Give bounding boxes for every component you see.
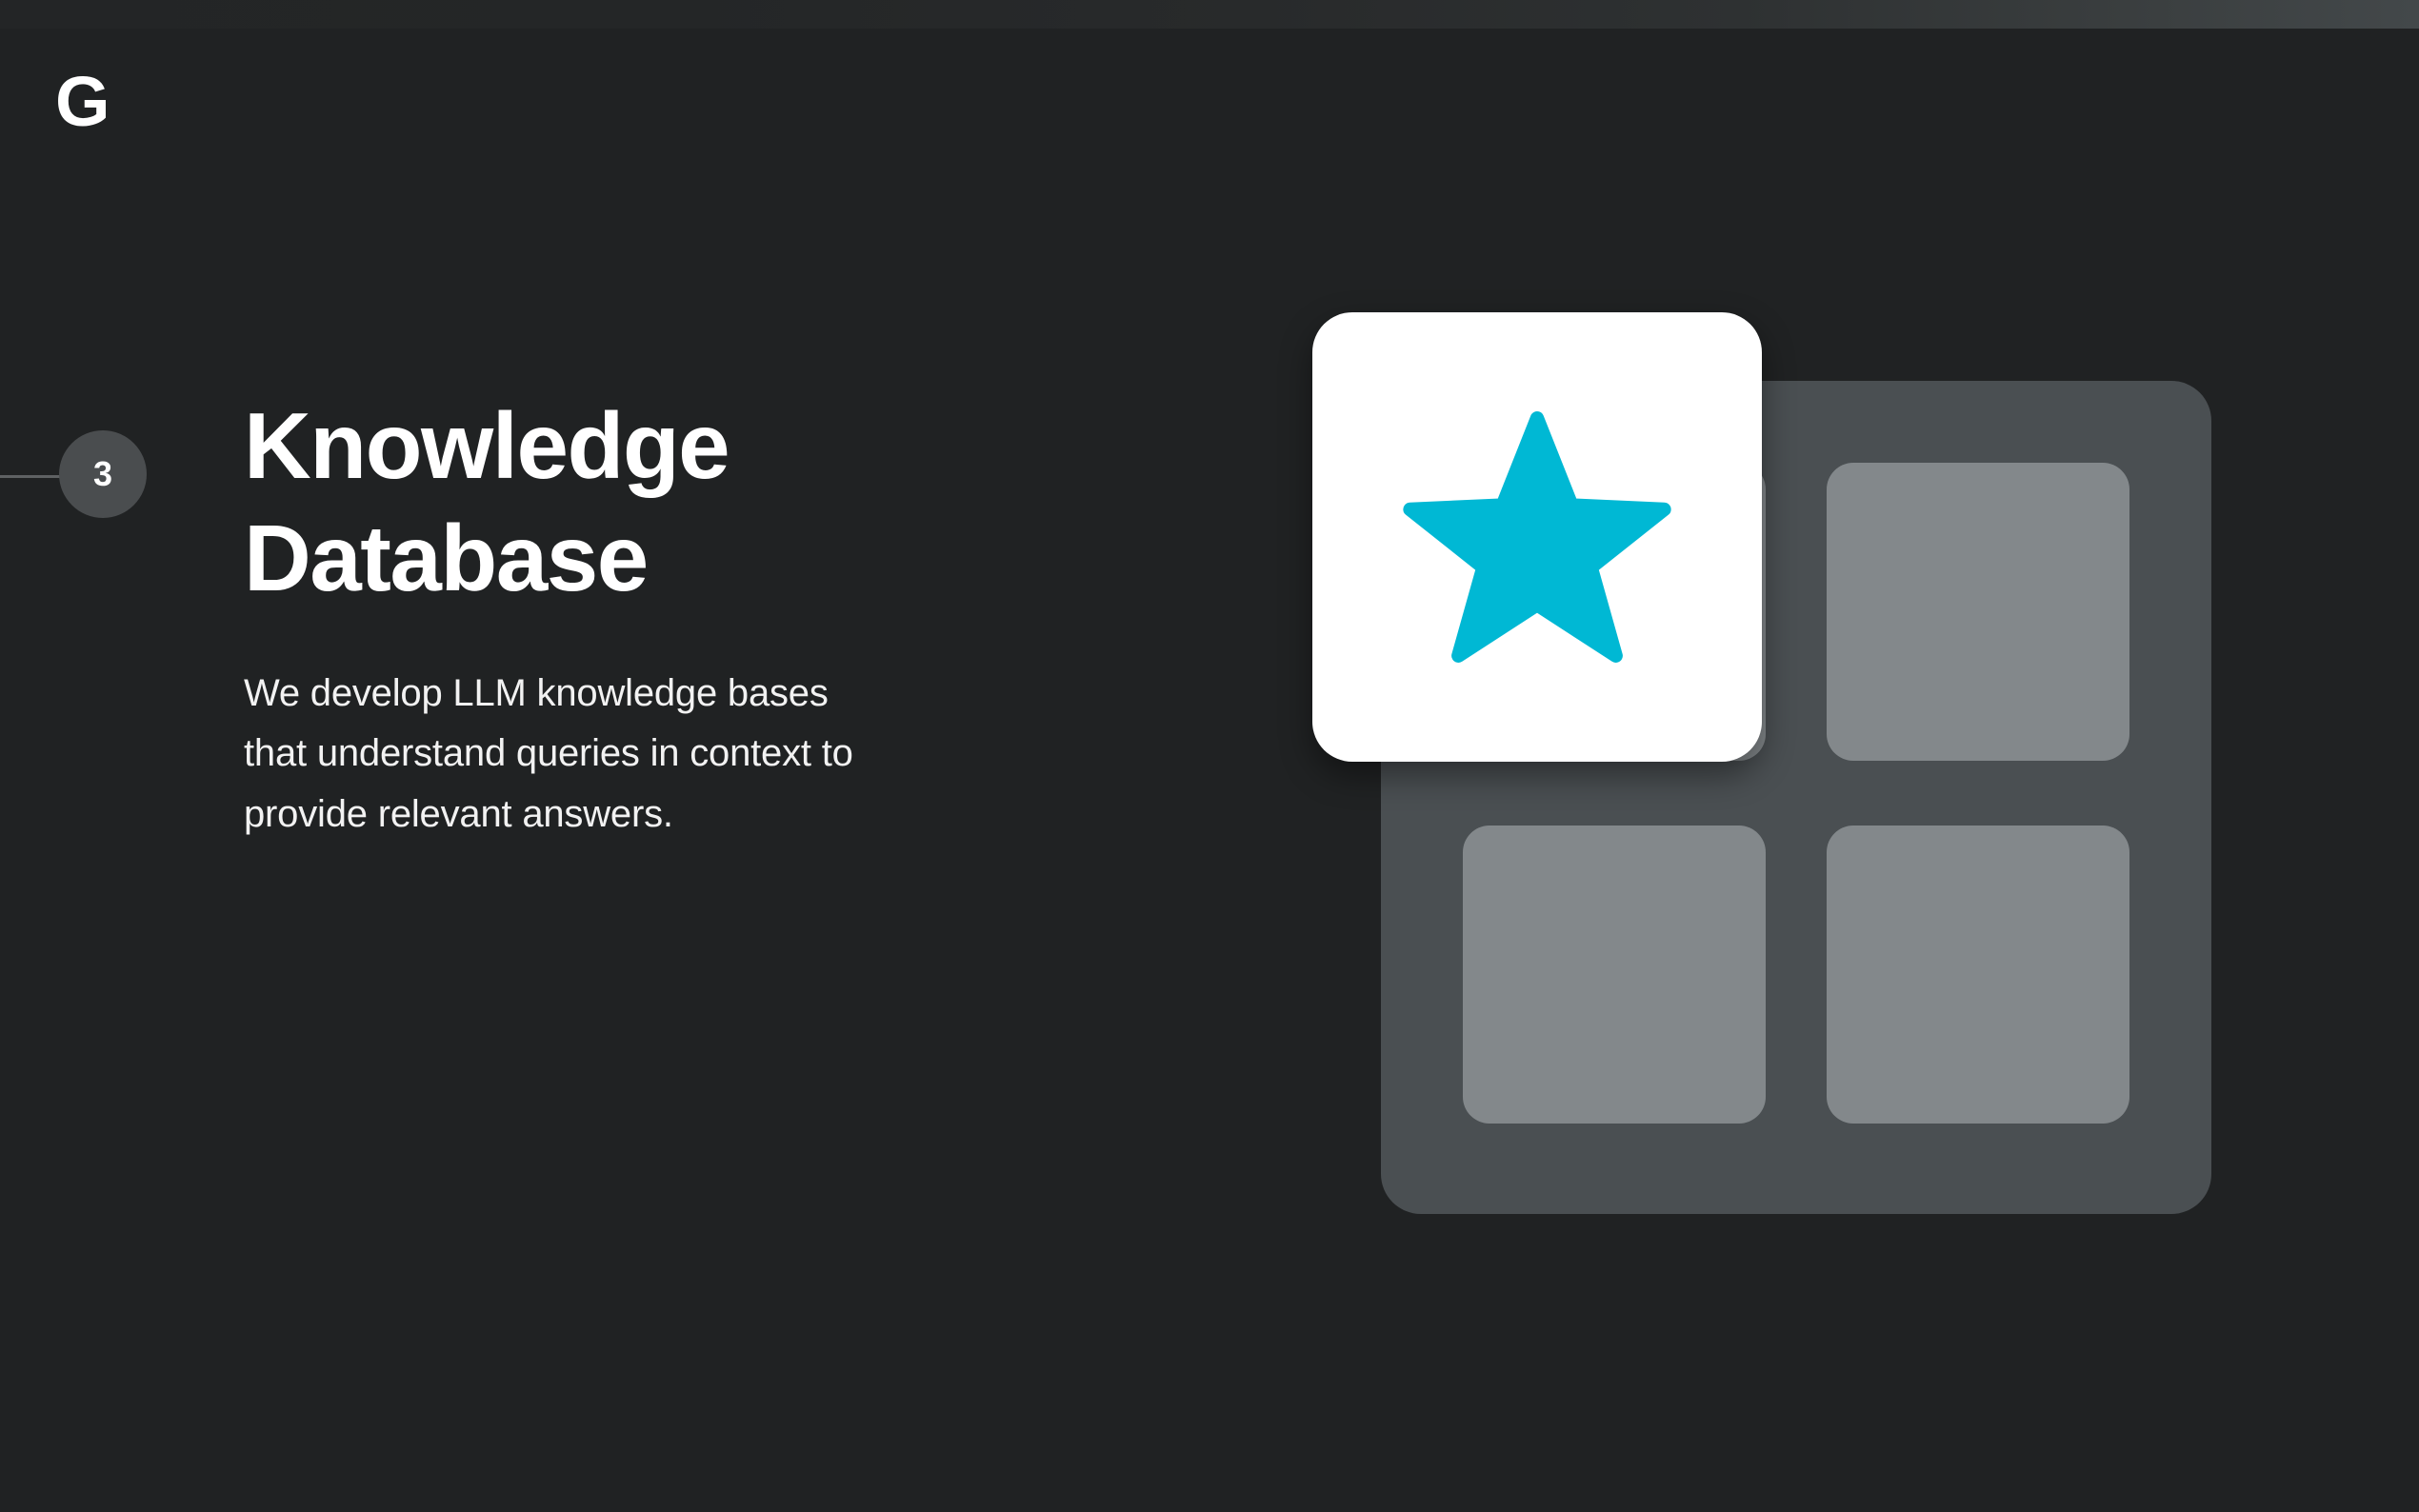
star-card [1312, 312, 1762, 762]
tile-bottom-left [1463, 826, 1766, 1124]
text-column: Knowledge Database We develop LLM knowle… [244, 390, 930, 845]
tile-bottom-right [1827, 826, 2129, 1124]
step-badge-number: 3 [93, 457, 112, 491]
top-gradient-strip [0, 0, 2419, 29]
brand-logo: G [55, 67, 109, 137]
page-title: Knowledge Database [244, 390, 930, 614]
step-connector-line [0, 475, 67, 478]
illustration-graphic [1312, 312, 2227, 1226]
slide-root: G 3 Knowledge Database We develop LLM kn… [0, 0, 2419, 1512]
step-badge: 3 [59, 430, 147, 518]
tile-top-right [1827, 463, 2129, 761]
star-icon [1399, 399, 1675, 675]
body-paragraph: We develop LLM knowledge bases that unde… [244, 664, 872, 845]
